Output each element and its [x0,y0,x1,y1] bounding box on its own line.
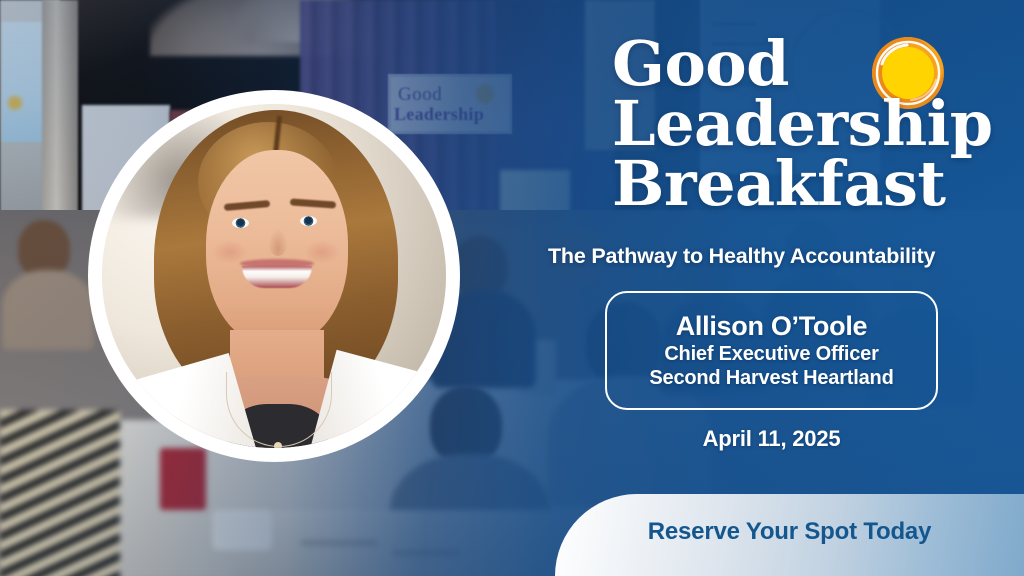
cheek-left [212,240,248,264]
title-line-1: Good [612,34,1012,94]
speaker-role: Chief Executive Officer [664,342,878,366]
speaker-portrait-ring [88,90,460,462]
event-date: April 11, 2025 [605,426,938,452]
title-line-2: Leadership [612,94,1012,154]
event-promo-graphic: Good Leadership [0,0,1024,576]
necklace-pendant [274,442,282,448]
event-subtitle: The Pathway to Healthy Accountability [548,244,996,269]
smile [242,266,312,288]
page-title: Good Leadership Breakfast [612,34,1012,214]
pupil-right [305,217,312,224]
speaker-info-box: Allison O’Toole Chief Executive Officer … [605,291,938,410]
title-line-3: Breakfast [612,154,1012,214]
reserve-cta-label[interactable]: Reserve Your Spot Today [648,518,931,552]
avatar [102,104,446,448]
pupil-left [237,219,244,226]
speaker-organization: Second Harvest Heartland [649,366,893,390]
speaker-name: Allison O’Toole [676,311,868,342]
reserve-cta-banner[interactable]: Reserve Your Spot Today [555,494,1024,576]
nose [268,228,288,256]
